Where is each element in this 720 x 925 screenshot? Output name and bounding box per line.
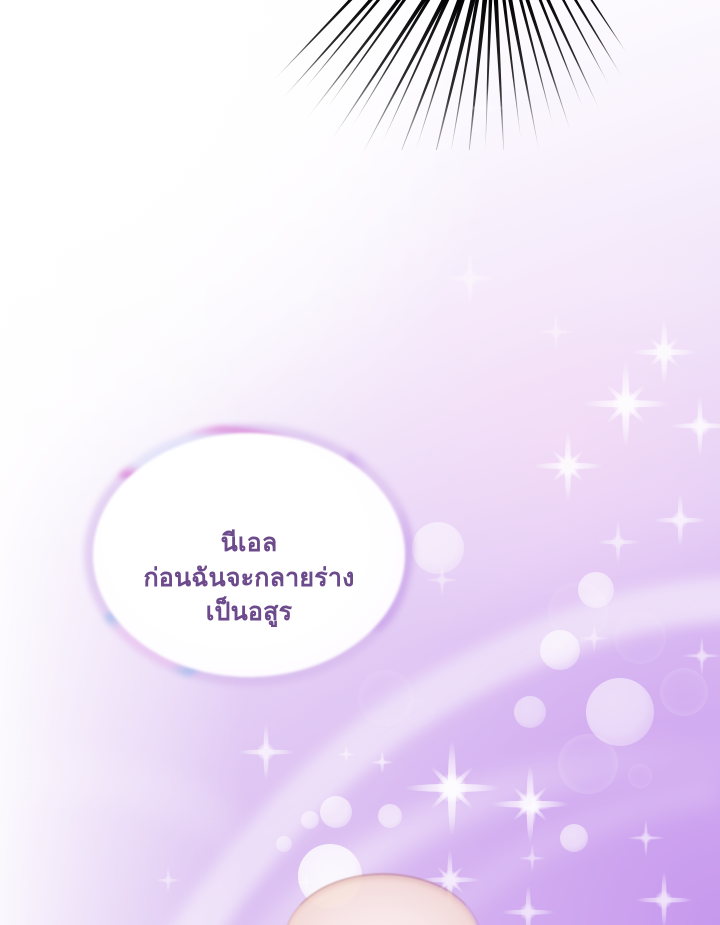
hair-strand xyxy=(301,0,384,94)
sparkle-ray xyxy=(605,383,647,425)
bokeh-circle xyxy=(276,836,292,852)
hair-strand xyxy=(380,0,452,148)
sparkle-ray xyxy=(370,761,394,764)
sparkle-ray xyxy=(491,801,569,808)
dialogue-bubble: นีเอล ก่อนฉันจะกลายร่าง เป็นอสูร xyxy=(84,424,414,686)
bokeh-circle xyxy=(548,582,608,642)
bokeh-circle xyxy=(614,612,666,664)
hair-strand xyxy=(329,0,429,143)
sparkle-ray xyxy=(596,540,640,544)
bokeh-circle xyxy=(578,572,614,608)
sparkle-star-icon xyxy=(370,750,394,774)
sparkle-core xyxy=(611,535,624,548)
sparkle-star-icon xyxy=(419,849,481,911)
sparkle-ray xyxy=(345,745,348,763)
bubble-text-block: นีเอล ก่อนฉันจะกลายร่าง เป็นอสูร xyxy=(84,424,414,686)
comic-panel: นีเอล ก่อนฉันจะกลายร่าง เป็นอสูร xyxy=(0,0,720,925)
sparkle-ray xyxy=(264,723,269,781)
sparkle-star-icon xyxy=(579,623,609,653)
hair-strands-icon xyxy=(0,0,720,150)
sparkle-ray xyxy=(648,336,679,367)
sparkle-core xyxy=(479,101,493,115)
sparkle-ray xyxy=(296,881,316,884)
sparkle-core xyxy=(378,758,385,765)
sparkle-ray xyxy=(518,857,546,860)
sparkle-ray xyxy=(381,750,384,774)
character-head xyxy=(284,875,480,925)
sparkle-star-icon xyxy=(462,84,510,132)
sparkle-ray xyxy=(593,623,596,653)
sparkle-core xyxy=(441,871,460,890)
sparkle-ray xyxy=(527,765,534,843)
sparkle-ray xyxy=(661,319,667,385)
sparkle-core xyxy=(257,743,274,760)
sparkle-star-icon xyxy=(536,312,576,352)
sparkle-core xyxy=(654,342,674,362)
sparkle-star-icon xyxy=(442,250,498,306)
sparkle-ray xyxy=(419,877,481,882)
sparkle-ray xyxy=(448,740,456,836)
sparkle-ray xyxy=(516,806,552,809)
sparkle-ray xyxy=(435,865,465,895)
bokeh-circle xyxy=(412,522,464,574)
sparkle-ray xyxy=(662,871,667,925)
sparkle-core xyxy=(613,391,639,417)
hair-strand xyxy=(485,0,492,150)
bokeh-circle xyxy=(660,668,708,716)
sparkle-core xyxy=(520,904,536,920)
sparkle-star-icon xyxy=(682,636,720,676)
hair-strand xyxy=(350,0,434,131)
sparkle-ray xyxy=(337,753,355,756)
sparkle-star-icon xyxy=(532,430,604,502)
sparkle-core xyxy=(303,879,309,885)
dialogue-line-2: ก่อนฉันจะกลายร่าง xyxy=(143,562,354,595)
sparkle-core xyxy=(164,876,172,884)
sparkle-ray xyxy=(697,395,702,457)
sparkle-core xyxy=(557,455,579,477)
hair-strand xyxy=(324,0,409,112)
sparkle-ray xyxy=(441,563,444,597)
sparkle-ray xyxy=(631,349,697,355)
sparkle-core xyxy=(691,417,710,436)
sparkle-core xyxy=(696,650,708,662)
sparkle-ray xyxy=(425,579,459,582)
sparkle-core xyxy=(462,270,479,287)
sparkle-ray xyxy=(429,765,475,811)
sparkle-ray xyxy=(682,654,720,657)
sparkle-star-icon xyxy=(155,867,181,893)
sparkle-ray xyxy=(532,463,604,469)
sparkle-star-icon xyxy=(635,871,693,925)
sparkle-ray xyxy=(484,84,488,132)
bokeh-circle xyxy=(540,630,580,670)
sparkle-ray xyxy=(404,784,500,792)
sparkle-core xyxy=(655,891,672,908)
sparkle-star-icon xyxy=(237,723,295,781)
sparkle-ray xyxy=(653,518,707,523)
sparkle-star-icon xyxy=(404,740,500,836)
sparkle-star-icon xyxy=(337,745,355,763)
sparkle-ray xyxy=(616,520,620,564)
hair-strand xyxy=(359,0,449,150)
sparkle-core xyxy=(438,774,467,803)
dialogue-line-1: นีเอล xyxy=(221,527,278,560)
sparkle-ray xyxy=(565,430,571,502)
hair-strand xyxy=(493,0,504,150)
sparkle-ray xyxy=(605,383,647,425)
sparkle-ray xyxy=(579,637,609,640)
bokeh-circle xyxy=(560,824,588,852)
hair-strand xyxy=(559,0,611,89)
sparkle-star-icon xyxy=(518,844,546,872)
sparkle-star-icon xyxy=(582,360,670,448)
sparkle-core xyxy=(640,832,651,843)
hair-strand xyxy=(524,0,572,136)
sparkle-star-icon xyxy=(516,790,552,826)
sparkle-star-icon xyxy=(596,520,640,564)
sparkle-core xyxy=(528,854,536,862)
sparkle-ray xyxy=(635,898,693,903)
sparkle-star-icon xyxy=(653,493,707,547)
sparkle-ray xyxy=(167,867,170,893)
bokeh-circle xyxy=(301,811,319,829)
sparkle-ray xyxy=(526,885,531,925)
sparkle-star-icon xyxy=(631,319,697,385)
sparkle-ray xyxy=(551,449,585,483)
hair-strand xyxy=(571,0,624,79)
hair-strand xyxy=(449,0,480,150)
hair-strand xyxy=(507,0,540,150)
sparkle-ray xyxy=(531,844,534,872)
sparkle-ray xyxy=(447,849,452,911)
sparkle-ray xyxy=(700,636,703,676)
hair-strand xyxy=(306,0,405,120)
sparkle-ray xyxy=(511,785,548,822)
sparkle-star-icon xyxy=(491,765,569,843)
sparkle-ray xyxy=(305,872,308,892)
character-head-outline xyxy=(284,873,482,925)
hair-strand xyxy=(414,0,466,150)
sparkle-ray xyxy=(644,819,647,857)
bokeh-circle xyxy=(586,678,654,746)
sparkle-ray xyxy=(536,330,576,333)
hair-strand xyxy=(518,0,555,130)
sparkle-ray xyxy=(554,312,557,352)
sparkle-ray xyxy=(678,493,683,547)
sparkle-core xyxy=(437,575,447,585)
dialogue-line-3: เป็นอสูร xyxy=(206,596,292,629)
hair-strand xyxy=(429,0,477,150)
sparkle-core xyxy=(343,751,348,756)
sparkle-core xyxy=(518,792,541,815)
sparkle-core xyxy=(529,803,540,814)
sparkle-ray xyxy=(532,790,535,826)
hair-strand xyxy=(544,0,601,113)
hair-strand xyxy=(272,0,357,82)
bokeh-circle xyxy=(406,698,434,726)
hair-strand xyxy=(280,0,377,101)
sparkle-star-icon xyxy=(425,563,459,597)
sparkle-ray xyxy=(669,423,720,428)
sparkle-ray xyxy=(429,765,475,811)
hair-strand xyxy=(466,0,488,150)
sparkle-ray xyxy=(442,276,498,281)
sparkle-star-icon xyxy=(501,885,555,925)
hair-strand xyxy=(502,0,522,143)
sparkle-star-icon xyxy=(627,819,665,857)
bokeh-circle xyxy=(298,844,362,908)
hair-strand xyxy=(587,0,629,56)
sparkle-ray xyxy=(622,360,629,448)
sparkle-ray xyxy=(627,836,665,839)
sparkle-core xyxy=(590,634,599,643)
sparkle-star-icon xyxy=(296,872,316,892)
bokeh-circle xyxy=(320,796,352,828)
sparkle-ray xyxy=(501,910,555,915)
bokeh-circle xyxy=(378,804,402,828)
sparkle-core xyxy=(672,512,688,528)
sparkle-ray xyxy=(468,250,473,306)
sparkle-star-icon xyxy=(669,395,720,457)
sparkle-ray xyxy=(237,750,295,755)
sparkle-ray xyxy=(462,106,510,110)
bokeh-circle xyxy=(558,734,618,794)
hair-strand xyxy=(536,0,584,111)
sparkle-ray xyxy=(435,865,465,895)
bokeh-circle xyxy=(628,764,652,788)
sparkle-ray xyxy=(511,785,548,822)
sparkle-ray xyxy=(582,400,670,407)
sparkle-ray xyxy=(648,336,679,367)
sparkle-ray xyxy=(155,879,181,882)
sparkle-ray xyxy=(551,449,585,483)
sparkle-core xyxy=(550,326,562,338)
hair-strand xyxy=(393,0,464,150)
bokeh-circle xyxy=(514,696,546,728)
